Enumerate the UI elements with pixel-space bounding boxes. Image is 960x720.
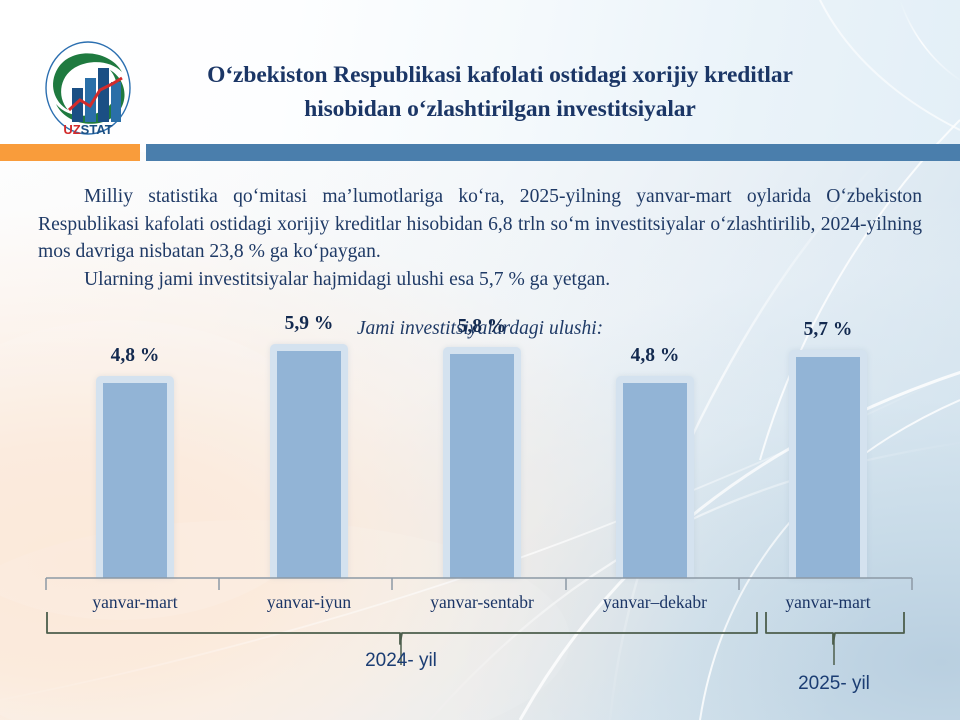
slide-root: UZSTAT O‘zbekiston Respublikasi kafolati… — [0, 0, 960, 720]
chart-axis-and-brackets — [0, 0, 960, 720]
group-label-2025: 2025- yil — [744, 673, 924, 695]
group-bracket-2024 — [47, 612, 757, 644]
group-bracket-2025 — [766, 612, 904, 644]
group-label-2024: 2024- yil — [311, 650, 491, 672]
